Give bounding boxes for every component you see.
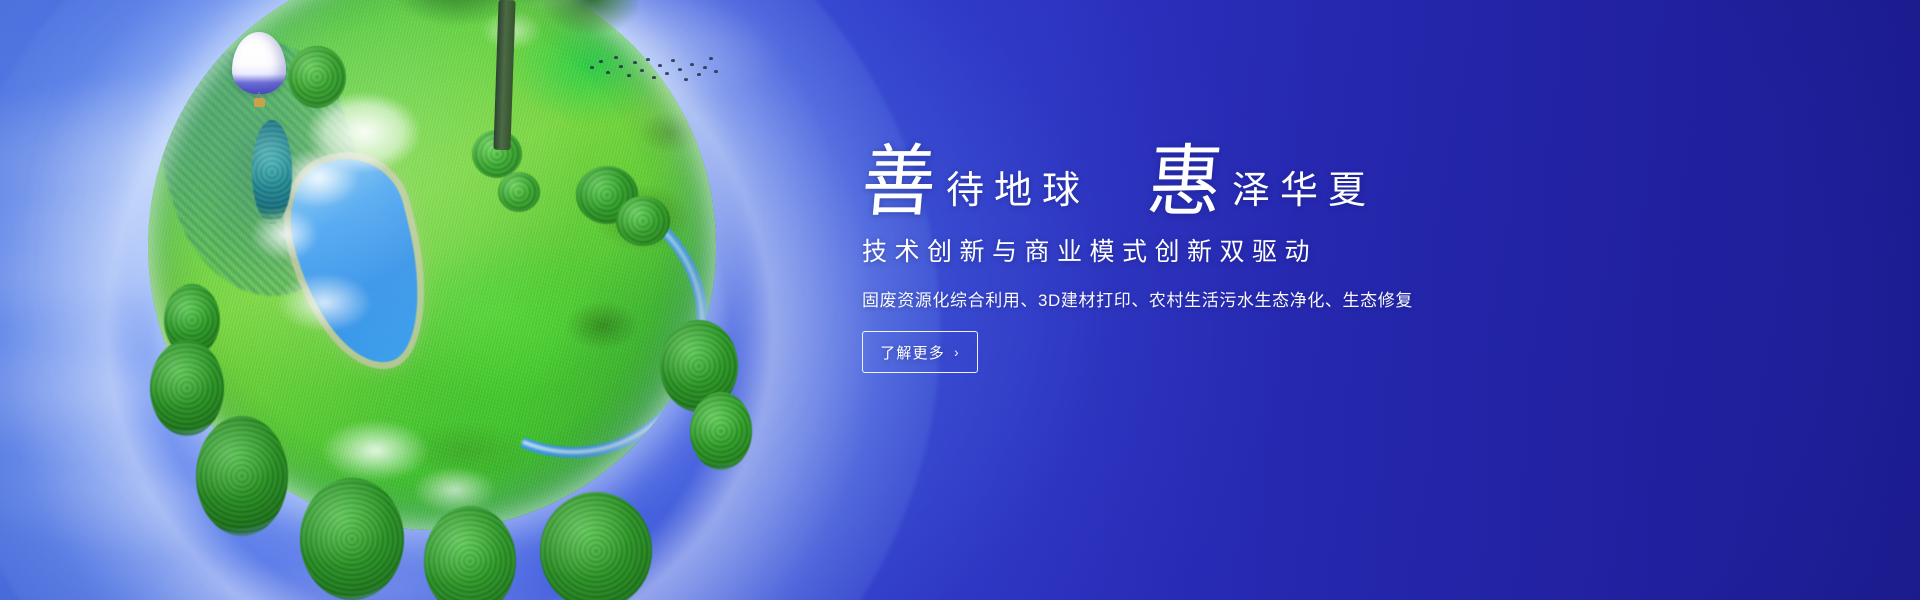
chevron-right-icon: › — [954, 345, 960, 359]
tree-clump — [690, 392, 752, 470]
tree-clump — [288, 46, 346, 108]
service-list: 固废资源化综合利用、3D建材打印、农村生活污水生态净化、生态修复 — [862, 286, 1722, 311]
headline-text-daidiqiu: 待地球 — [936, 172, 1090, 218]
bird-flock — [588, 52, 718, 88]
tree-clump — [300, 478, 404, 600]
balloon-envelope — [232, 32, 286, 94]
hot-air-balloon — [232, 32, 286, 118]
learn-more-label: 了解更多 — [880, 342, 945, 363]
learn-more-button[interactable]: 了解更多 › — [862, 331, 978, 373]
subtitle: 技术创新与商业模式创新双驱动 — [862, 232, 1722, 268]
headline-char-hui: 惠 — [1145, 146, 1226, 221]
hero-copy: 善 待地球 惠 泽华夏 技术创新与商业模式创新双驱动 固废资源化综合利用、3D建… — [862, 132, 1722, 373]
headline-char-shan: 善 — [859, 146, 940, 221]
tree-clump — [252, 120, 292, 224]
page-title: 善 待地球 惠 泽华夏 — [862, 132, 1722, 218]
tree-clump — [540, 492, 652, 600]
balloon-basket — [254, 98, 265, 107]
headline-text-zehuaxia: 泽华夏 — [1222, 172, 1376, 218]
tree-clump — [196, 416, 288, 536]
tree-clump — [498, 172, 540, 212]
tree-clump — [616, 196, 670, 246]
hero-banner: 善 待地球 惠 泽华夏 技术创新与商业模式创新双驱动 固废资源化综合利用、3D建… — [0, 0, 1920, 600]
tree-clump — [150, 340, 224, 436]
